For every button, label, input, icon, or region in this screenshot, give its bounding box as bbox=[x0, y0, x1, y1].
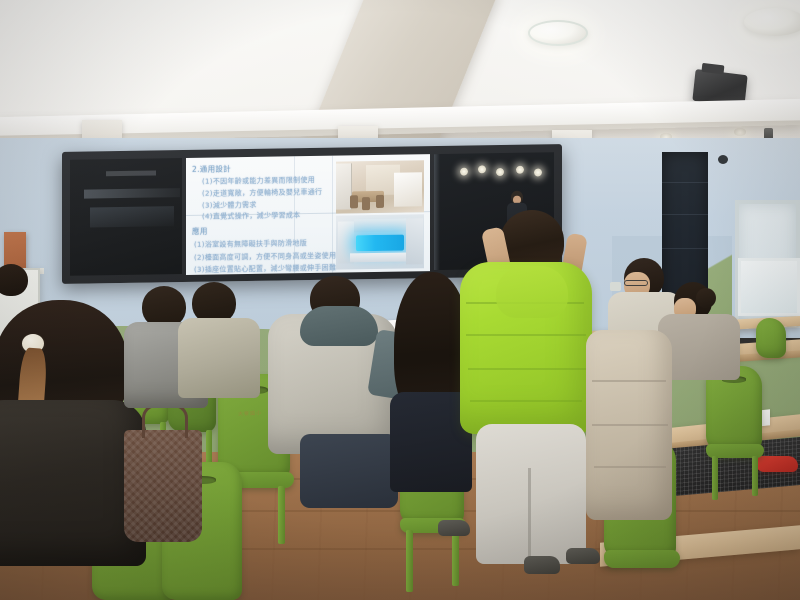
hair-bun bbox=[696, 288, 716, 308]
slide-application-2: (2)檯面高度可調，方便不同身高或坐姿使用者 bbox=[194, 251, 344, 263]
hood bbox=[300, 306, 378, 346]
wall-outlet bbox=[610, 282, 621, 291]
shoe-left bbox=[524, 556, 560, 574]
jacket-quilt-line-4 bbox=[470, 400, 582, 402]
pants-center-seam bbox=[528, 468, 531, 564]
display-panel-left[interactable] bbox=[70, 158, 182, 276]
head bbox=[0, 264, 28, 296]
handbag-strap bbox=[142, 404, 188, 438]
shoe-under-table bbox=[438, 520, 470, 536]
slide-item-2: (2)走道寬敞，方便輪椅及嬰兒車通行 bbox=[202, 187, 322, 199]
slide-item-3: (3)減少體力需求 bbox=[202, 200, 257, 211]
handbag bbox=[124, 430, 202, 542]
coat-quilt-line-3 bbox=[594, 466, 666, 468]
slide-photo-bottom bbox=[336, 214, 424, 269]
slide-application-3: (3)插座位置貼心配置，減少彎腰或伸手困難 bbox=[194, 263, 336, 275]
slide-item-1: (1)不因年齡或能力差異而限制使用 bbox=[202, 175, 315, 187]
slide-application-1: (1)浴室設有無障礙扶手與防滑地版 bbox=[194, 238, 307, 250]
window-sash[interactable] bbox=[738, 258, 800, 316]
jacket-quilt-line-3 bbox=[468, 368, 586, 370]
red-pouch bbox=[756, 456, 798, 472]
coat-quilt-line-1 bbox=[592, 380, 666, 382]
chair-school-marking: 大寮國小 bbox=[238, 409, 262, 417]
lower-body bbox=[300, 434, 398, 508]
wall-camera-icon bbox=[718, 155, 728, 164]
sweatpants bbox=[476, 424, 586, 564]
wall-dark-panel bbox=[662, 152, 708, 304]
presentation-slide: 2.通用設計 (1)不因年齡或能力差異而限制使用 (2)走道寬敞，方便輪椅及嬰兒… bbox=[186, 154, 430, 275]
jacket-quilt-line-2 bbox=[466, 334, 586, 336]
glasses-icon bbox=[624, 280, 648, 286]
slide-section-label: 應用 bbox=[192, 226, 208, 237]
slide-item-4: (4)直覺式操作，減少學習成本 bbox=[202, 210, 300, 222]
torso bbox=[178, 318, 260, 398]
slide-photo-top bbox=[336, 160, 424, 213]
coat-quilt-line-2 bbox=[592, 424, 668, 426]
classroom-scene: 2.通用設計 (1)不因年齡或能力差異而限制使用 (2)走道寬敞，方便輪椅及嬰兒… bbox=[0, 0, 800, 600]
shoe-right bbox=[566, 548, 600, 564]
ceiling-light-1 bbox=[528, 20, 588, 46]
hood-fold bbox=[496, 266, 568, 318]
slide-heading: 2.通用設計 bbox=[192, 163, 231, 175]
ceiling-light-2 bbox=[744, 8, 800, 36]
